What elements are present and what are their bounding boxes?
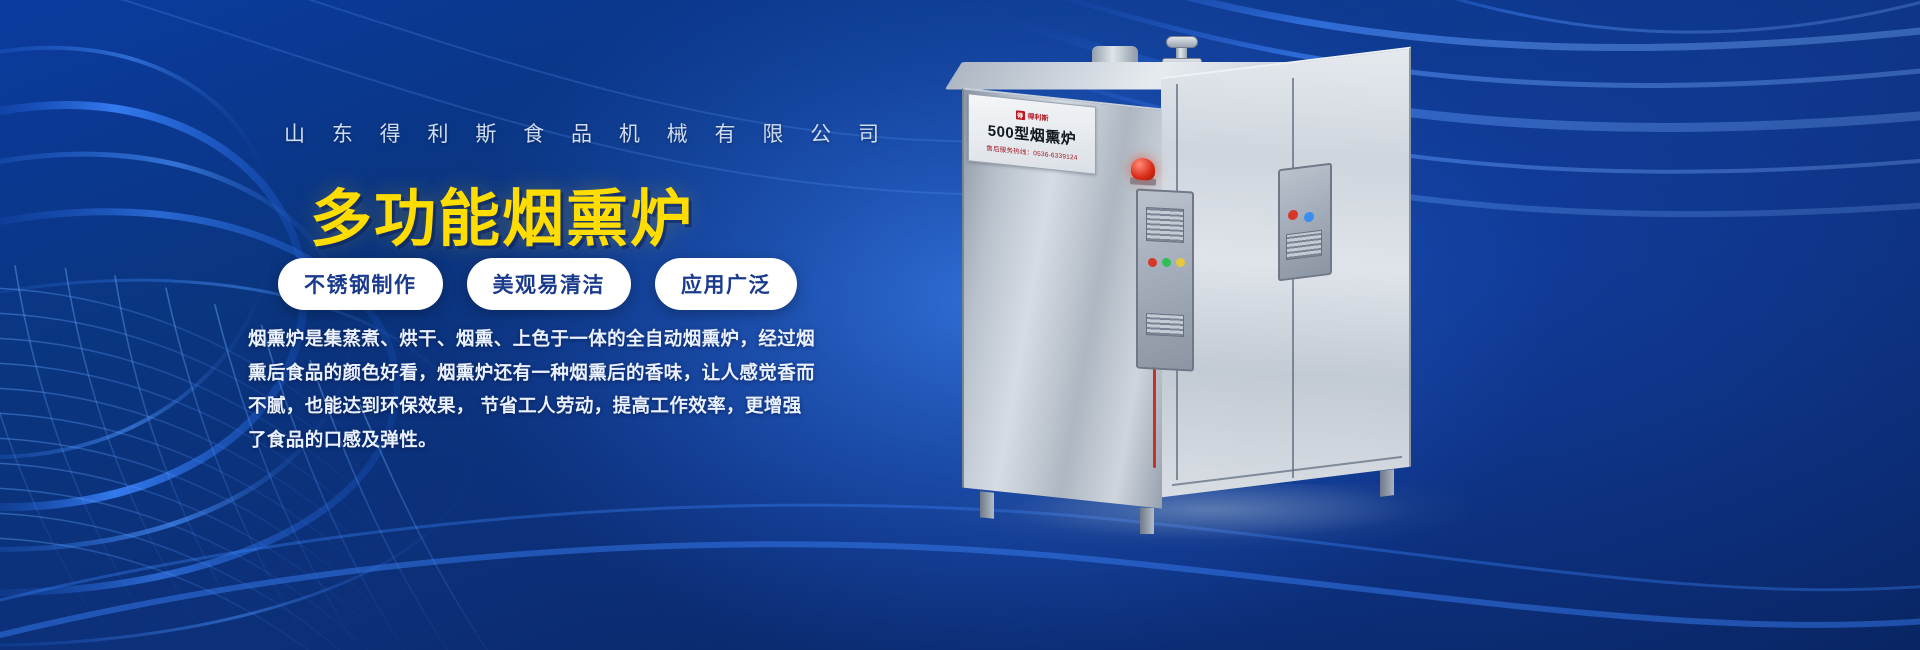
feature-pill-wide-application[interactable]: 应用广泛: [655, 258, 797, 310]
alarm-beacon-icon: [1131, 157, 1155, 180]
indicator-light-red: [1148, 258, 1157, 267]
leg-rear-right: [1380, 469, 1394, 497]
page-title: 多功能烟熏炉: [310, 168, 694, 258]
brand-name: 得利斯: [1028, 111, 1049, 123]
hero-text-column: 山 东 得 利 斯 食 品 机 械 有 限 公 司 多功能烟熏炉 不锈钢制作 美…: [248, 0, 868, 650]
leg-front-right: [1140, 508, 1154, 534]
machine-nameplate: 得 得利斯 500型烟熏炉 售后服务热线：0536-6339124: [968, 93, 1096, 174]
leg-front-left: [980, 491, 994, 518]
electrical-box[interactable]: [1278, 163, 1332, 282]
hero-banner: 山 东 得 利 斯 食 品 机 械 有 限 公 司 多功能烟熏炉 不锈钢制作 美…: [0, 0, 1920, 650]
pipe-cap: [1166, 36, 1198, 48]
control-panel-vent: [1146, 313, 1184, 337]
control-panel-display: [1146, 207, 1184, 243]
feature-pill-group: 不锈钢制作 美观易清洁 应用广泛: [278, 258, 797, 310]
feature-pill-stainless[interactable]: 不锈钢制作: [278, 258, 443, 310]
product-image-smokehouse-oven: 得 得利斯 500型烟熏炉 售后服务热线：0536-6339124: [940, 40, 1500, 540]
company-name: 山 东 得 利 斯 食 品 机 械 有 限 公 司: [284, 118, 890, 148]
brand-mark-icon: 得: [1016, 110, 1025, 120]
electrical-box-vent: [1286, 230, 1322, 260]
brand-logo: 得 得利斯: [1016, 110, 1049, 123]
indicator-light-green: [1162, 258, 1171, 267]
feature-pill-easy-clean[interactable]: 美观易清洁: [467, 258, 632, 310]
product-description: 烟熏炉是集蒸煮、烘干、烟熏、上色于一体的全自动烟熏炉，经过烟熏后食品的颜色好看，…: [248, 322, 820, 457]
indicator-light-yellow: [1176, 258, 1185, 267]
